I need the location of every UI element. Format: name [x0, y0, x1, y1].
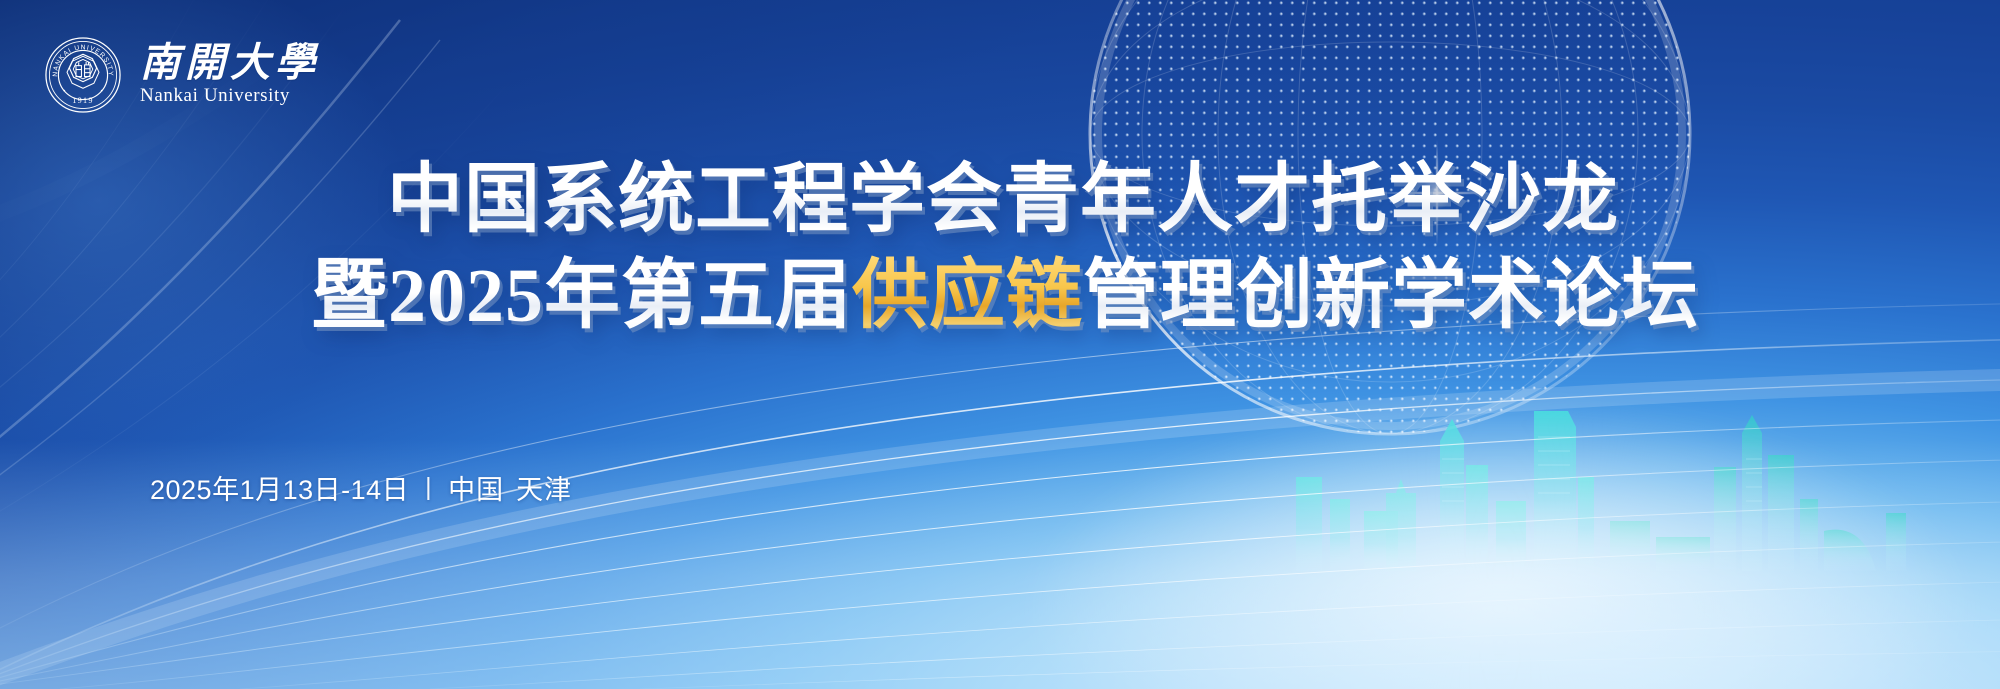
conference-banner: NANKAI UNIVERSITY 1919 南開大學 Nankai Unive…	[0, 0, 2000, 689]
headline-line-1: 中国系统工程学会青年人才托举沙龙	[0, 152, 2000, 248]
meta-separator: |	[425, 473, 432, 502]
event-meta-line: 2025年1月13日-14日 | 中国天津	[150, 468, 572, 507]
logo-wordmark: 南開大學 Nankai University	[140, 43, 320, 108]
seal-year: 1919	[72, 96, 93, 105]
headline-block: 中国系统工程学会青年人才托举沙龙 暨2025年第五届供应链管理创新学术论坛	[0, 152, 2000, 344]
nankai-seal-icon: NANKAI UNIVERSITY 1919	[44, 36, 122, 114]
event-city: 天津	[516, 475, 572, 505]
logo-name-en: Nankai University	[140, 85, 320, 107]
event-date: 2025年1月13日-14日	[150, 468, 409, 507]
headline-line-2: 暨2025年第五届供应链管理创新学术论坛	[0, 248, 2000, 344]
nankai-university-logo: NANKAI UNIVERSITY 1919 南開大學 Nankai Unive…	[44, 36, 320, 114]
logo-name-cn: 南開大學	[140, 43, 320, 84]
event-country: 中国	[448, 475, 504, 505]
event-location: 中国天津	[448, 468, 572, 507]
headline-line-2-part-2: 管理创新学术论坛	[1083, 254, 1699, 338]
headline-line-2-highlight: 供应链	[852, 254, 1083, 338]
headline-line-2-part-1: 暨2025年第五届	[311, 254, 852, 338]
